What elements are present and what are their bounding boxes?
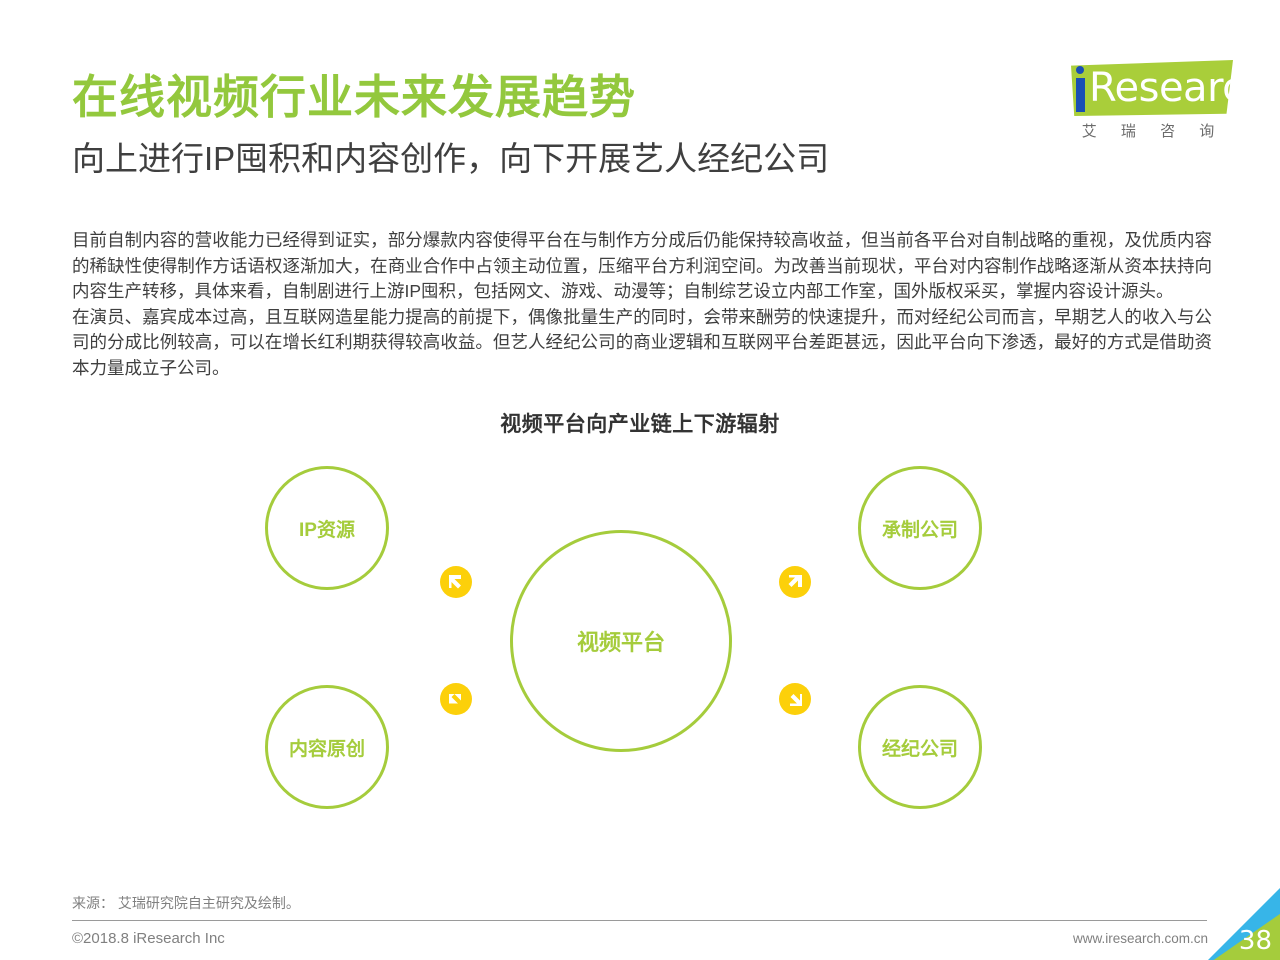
diagram-node-original-content: 内容原创	[265, 685, 389, 809]
logo-i-dot-icon	[1076, 66, 1084, 74]
diagram-node-talent-agency: 经纪公司	[858, 685, 982, 809]
value-chain-diagram: IP资源 承制公司 内容原创 经纪公司 视频平台	[0, 440, 1280, 860]
page-subtitle: 向上进行IP囤积和内容创作，向下开展艺人经纪公司	[72, 138, 829, 180]
slide-page: Research 艾 瑞 咨 询 在线视频行业未来发展趋势 向上进行IP囤积和内…	[0, 0, 1280, 960]
logo-i-stem-icon	[1076, 78, 1085, 112]
logo-subtitle: 艾 瑞 咨 询	[1073, 120, 1233, 141]
arrow-lower-right-icon	[779, 683, 811, 715]
body-paragraph-2: 在演员、嘉宾成本过高，且互联网造星能力提高的前提下，偶像批量生产的同时，会带来酬…	[72, 305, 1212, 382]
arrow-upper-left-icon	[440, 566, 472, 598]
copyright-text: ©2018.8 iResearch Inc	[72, 930, 225, 947]
diagram-node-ip-resource: IP资源	[265, 466, 389, 590]
body-paragraph-1: 目前自制内容的营收能力已经得到证实，部分爆款内容使得平台在与制作方分成后仍能保持…	[72, 228, 1212, 305]
diagram-center-label: 视频平台	[577, 625, 665, 657]
source-note: 来源： 艾瑞研究院自主研究及绘制。	[72, 893, 300, 913]
page-number: 38	[1239, 926, 1272, 956]
diagram-node-video-platform: 视频平台	[510, 530, 732, 752]
page-title: 在线视频行业未来发展趋势	[72, 69, 636, 125]
footer-divider	[72, 920, 1207, 921]
arrow-lower-left-icon	[440, 683, 472, 715]
arrow-upper-right-icon	[779, 566, 811, 598]
iresearch-logo: Research 艾 瑞 咨 询	[1043, 58, 1233, 150]
diagram-node-label: 经纪公司	[882, 734, 958, 761]
diagram-node-label: 内容原创	[289, 734, 365, 761]
diagram-node-production-company: 承制公司	[858, 466, 982, 590]
diagram-node-label: IP资源	[299, 515, 355, 542]
website-url: www.iresearch.com.cn	[1060, 931, 1208, 946]
diagram-title: 视频平台向产业链上下游辐射	[0, 408, 1280, 438]
diagram-node-label: 承制公司	[882, 515, 958, 542]
body-text: 目前自制内容的营收能力已经得到证实，部分爆款内容使得平台在与制作方分成后仍能保持…	[72, 228, 1212, 381]
logo-wordmark: Research	[1089, 66, 1268, 110]
